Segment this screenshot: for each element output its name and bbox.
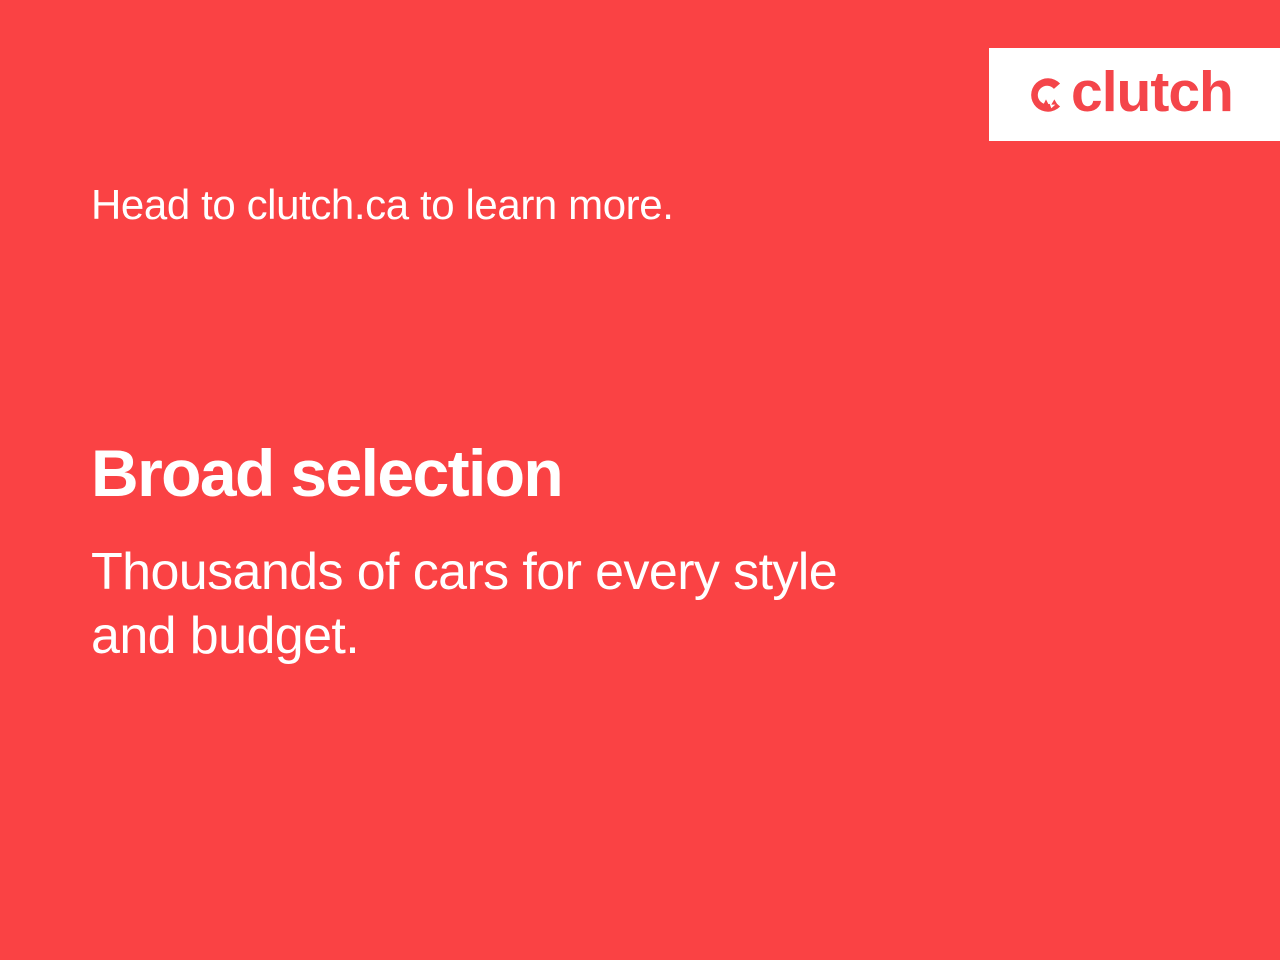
slide-canvas: clutch Head to clutch.ca to learn more. … [0,0,1280,960]
main-copy-block: Broad selection Thousands of cars for ev… [91,440,1071,669]
clutch-ring-icon [1024,73,1068,117]
logo-lockup: clutch [1024,66,1233,123]
subcopy-line-2: and budget. [91,604,1021,668]
clutch-logo-badge[interactable]: clutch [989,48,1280,141]
logo-wordmark: clutch [1071,64,1233,121]
kicker-text: Head to clutch.ca to learn more. [91,180,674,230]
page-title: Broad selection [91,440,1071,506]
subcopy-line-1: Thousands of cars for every style [91,540,1021,604]
subcopy-text: Thousands of cars for every style and bu… [91,540,1021,669]
